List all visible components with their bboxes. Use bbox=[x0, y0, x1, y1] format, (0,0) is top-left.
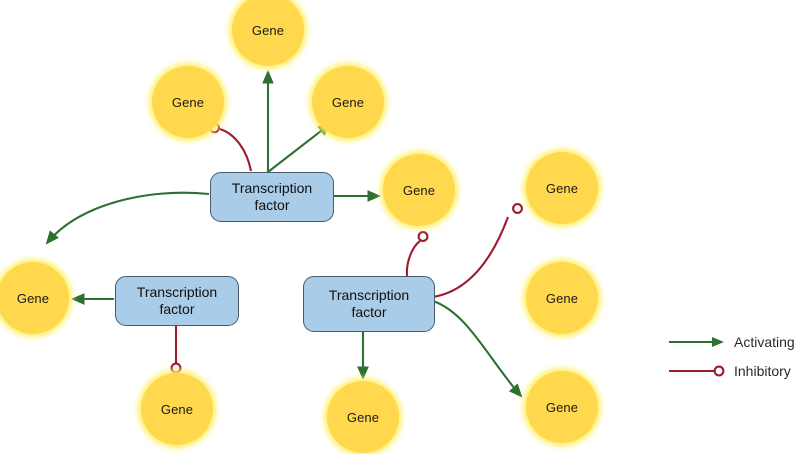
inhibitory-terminal-icon bbox=[172, 364, 181, 373]
gene-label: Gene bbox=[347, 410, 379, 425]
tf-label-line1: Transcription bbox=[329, 287, 409, 303]
tf-label-line2: factor bbox=[254, 197, 289, 213]
gene-node-left[interactable]: Gene bbox=[0, 262, 69, 334]
gene-node-top-right[interactable]: Gene bbox=[312, 66, 384, 138]
gene-node-top-left[interactable]: Gene bbox=[152, 66, 224, 138]
transcription-factor-label: Transcription factor bbox=[232, 180, 312, 215]
gene-label: Gene bbox=[252, 23, 284, 38]
gene-label: Gene bbox=[17, 291, 49, 306]
gene-label: Gene bbox=[172, 95, 204, 110]
gene-node-mid-right[interactable]: Gene bbox=[526, 152, 598, 224]
inhibitory-terminal-icon bbox=[513, 204, 522, 213]
transcription-factor-label: Transcription factor bbox=[137, 284, 217, 319]
activating-arrow-icon bbox=[668, 334, 726, 350]
legend-label-activating: Activating bbox=[734, 334, 795, 350]
edge-tf-left-to-gene-bottom-left bbox=[172, 324, 181, 372]
gene-node-bottom-mid[interactable]: Gene bbox=[327, 381, 399, 453]
transcription-factor-node-left[interactable]: Transcription factor bbox=[115, 276, 239, 326]
gene-node-mid-center[interactable]: Gene bbox=[383, 154, 455, 226]
edge-tf-center-to-gene-bottom-right bbox=[433, 301, 521, 396]
tf-label-line1: Transcription bbox=[137, 284, 217, 300]
gene-label: Gene bbox=[161, 402, 193, 417]
inhibitory-bar-icon bbox=[668, 363, 726, 379]
tf-label-line1: Transcription bbox=[232, 180, 312, 196]
gene-node-right-center[interactable]: Gene bbox=[526, 262, 598, 334]
gene-label: Gene bbox=[546, 181, 578, 196]
transcription-factor-label: Transcription factor bbox=[329, 287, 409, 322]
gene-regulatory-network-diagram: Gene Gene Gene Gene Gene Gene Gene Gene … bbox=[0, 0, 800, 454]
tf-label-line2: factor bbox=[351, 304, 386, 320]
gene-label: Gene bbox=[546, 291, 578, 306]
edge-tf-top-to-gene-top-left bbox=[210, 123, 251, 171]
gene-node-bottom-left[interactable]: Gene bbox=[141, 373, 213, 445]
legend: Activating Inhibitory bbox=[668, 330, 800, 390]
legend-item-activating: Activating bbox=[668, 334, 795, 350]
gene-node-bottom-right[interactable]: Gene bbox=[526, 371, 598, 443]
edge-tf-center-to-gene-mid-right bbox=[433, 204, 522, 297]
gene-label: Gene bbox=[403, 183, 435, 198]
transcription-factor-node-top[interactable]: Transcription factor bbox=[210, 172, 334, 222]
legend-label-inhibitory: Inhibitory bbox=[734, 363, 791, 379]
inhibitory-terminal-icon bbox=[419, 232, 428, 241]
transcription-factor-node-center[interactable]: Transcription factor bbox=[303, 276, 435, 332]
tf-label-line2: factor bbox=[159, 301, 194, 317]
edge-tf-top-to-gene-top-right bbox=[268, 124, 330, 172]
edge-tf-top-to-tf-left bbox=[47, 193, 209, 243]
edge-tf-center-to-gene-mid-center bbox=[407, 232, 428, 276]
gene-node-top-center[interactable]: Gene bbox=[232, 0, 304, 66]
gene-label: Gene bbox=[332, 95, 364, 110]
legend-item-inhibitory: Inhibitory bbox=[668, 363, 791, 379]
gene-label: Gene bbox=[546, 400, 578, 415]
